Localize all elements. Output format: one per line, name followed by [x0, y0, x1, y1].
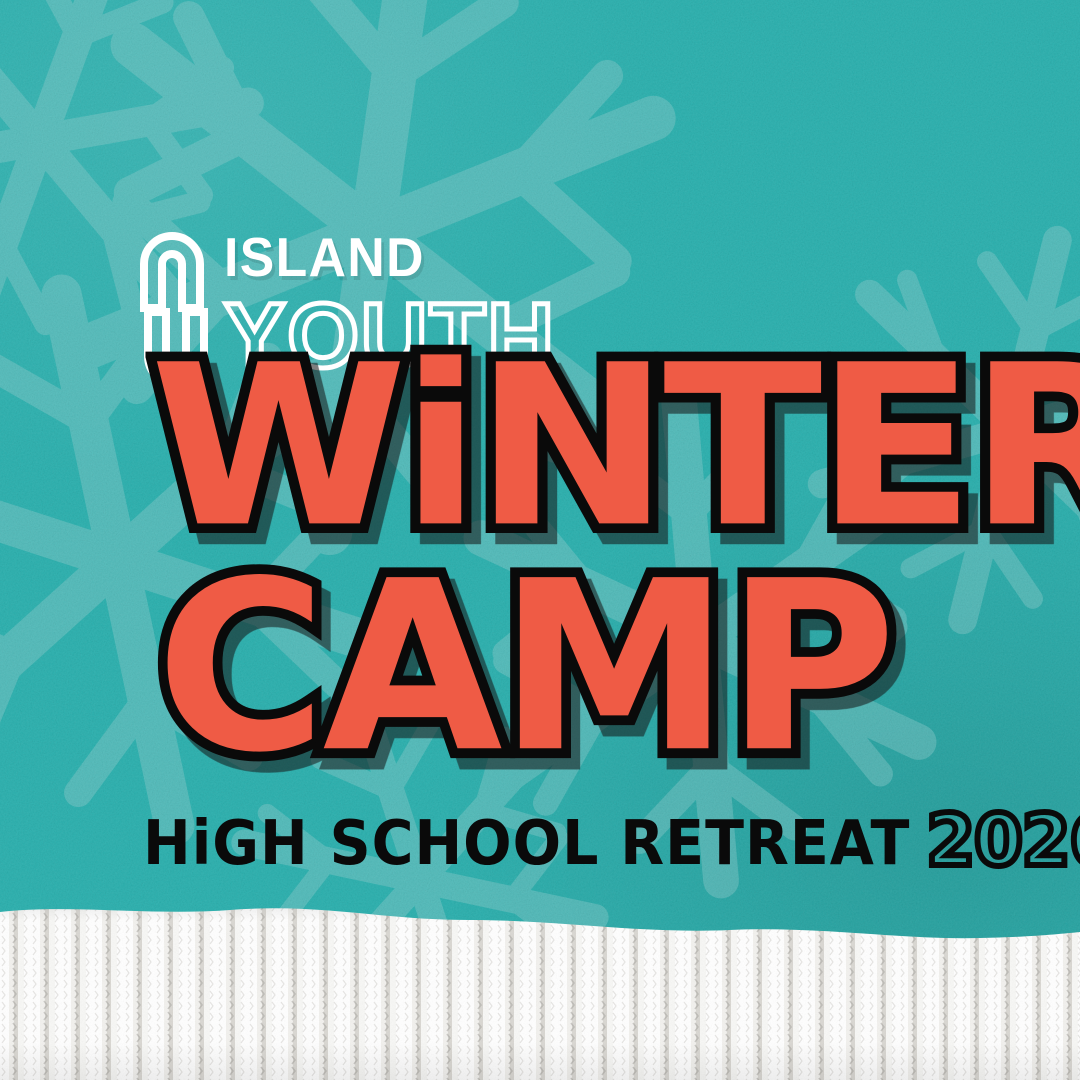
headline-line-camp: CAMP: [156, 566, 892, 768]
brand-name-island: ISLAND: [224, 230, 425, 285]
headline-line-winter: WiNTER: [150, 352, 1080, 543]
subtitle-year: 2026: [926, 805, 1080, 876]
subtitle-row: HiGH SCHOOL RETREAT 2026: [143, 806, 1080, 876]
winter-camp-poster: ISLAND YOUTH WiNTER CAMP HiGH SCHOOL RET…: [0, 0, 1080, 1080]
knit-fabric-band: [0, 890, 1080, 1080]
subtitle-text: HiGH SCHOOL RETREAT: [143, 813, 910, 875]
